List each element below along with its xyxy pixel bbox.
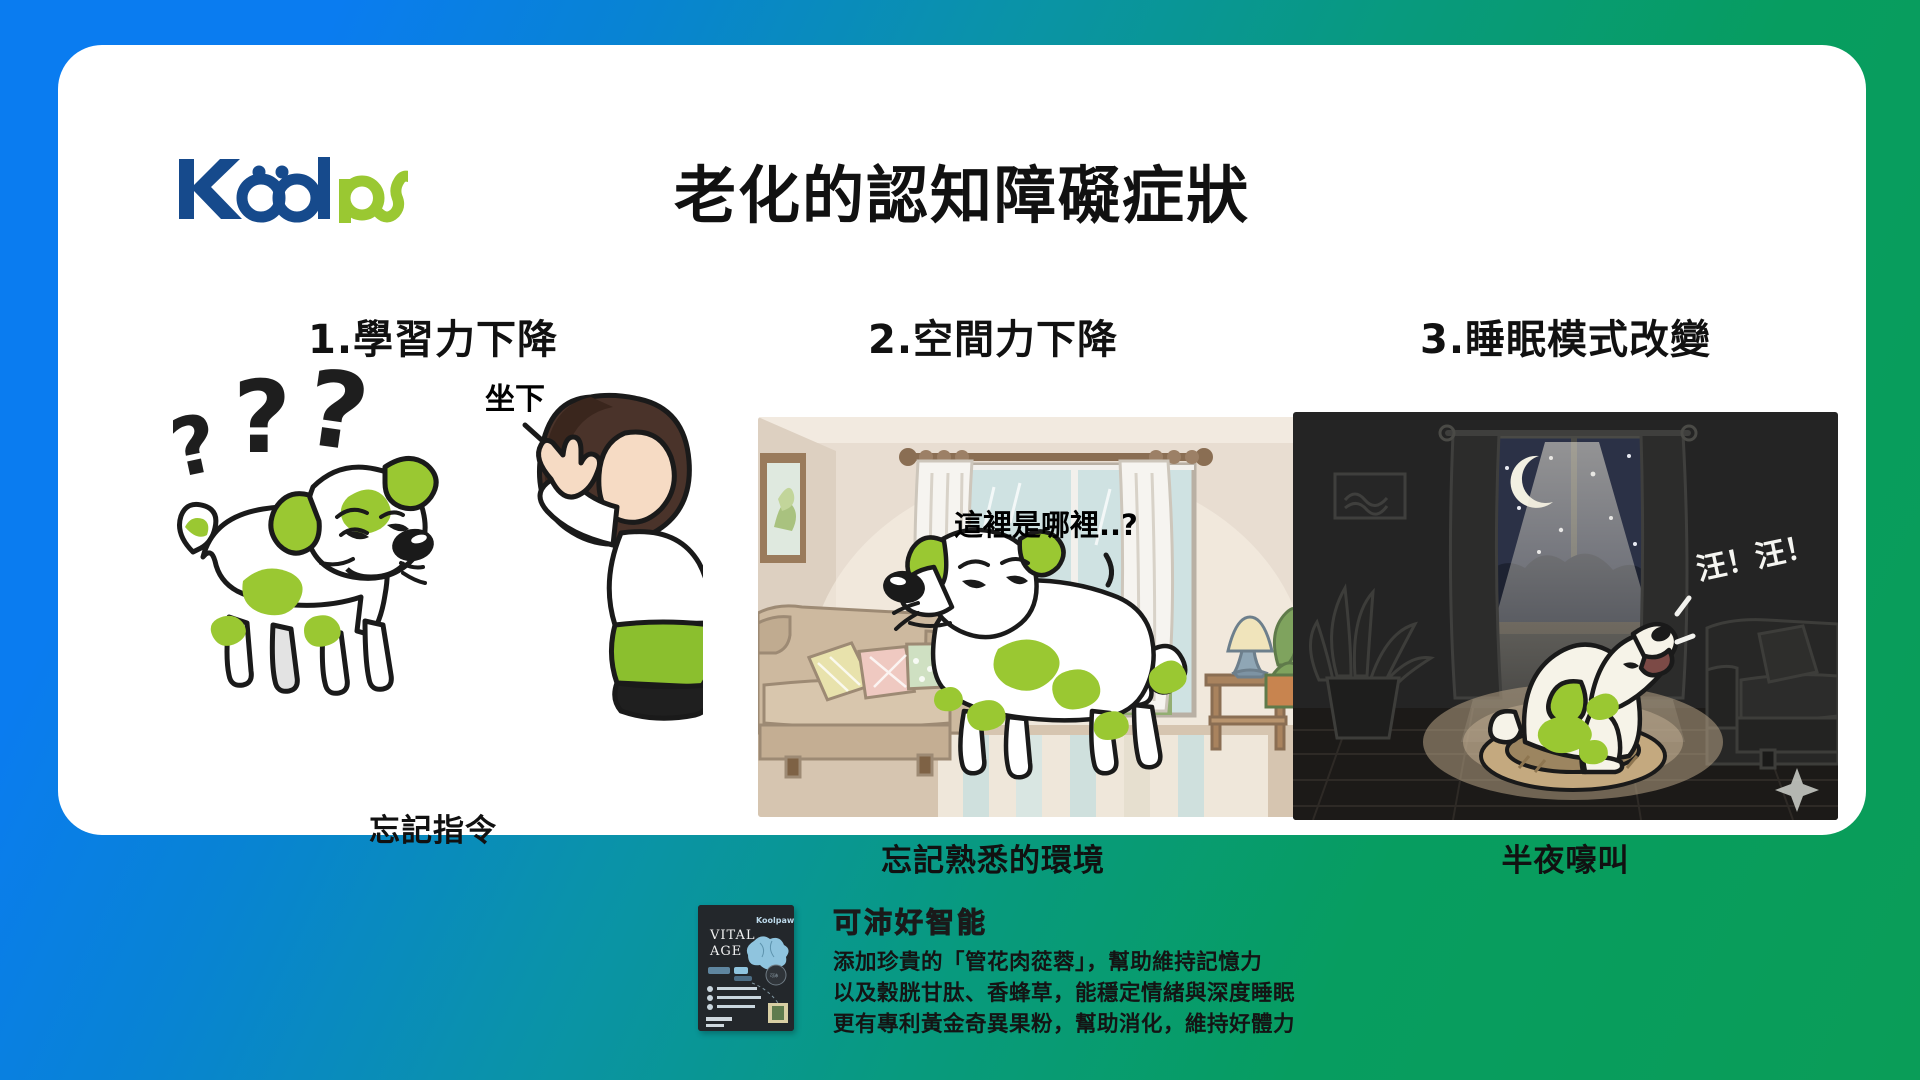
illustration-lost-in-room: 這裡是哪裡..? — [758, 417, 1298, 817]
product-line-3: 更有專利黃金奇異果粉，幫助消化，維持好體力 — [833, 1007, 1295, 1038]
product-line-2: 以及穀胱甘肽、香蜂草，能穩定情緒與深度睡眠 — [833, 976, 1295, 1007]
svg-text:?: ? — [233, 367, 291, 476]
main-card: 老化的認知障礙症狀 1.學習力下降 ? ? ? — [58, 45, 1866, 835]
svg-text:AGE: AGE — [709, 944, 742, 959]
product-line-1: 添加珍貴的「管花肉蓯蓉」，幫助維持記憶力 — [833, 945, 1262, 976]
section-2-caption: 忘記熟悉的環境 — [713, 835, 1273, 880]
section-learning-decline: 1.學習力下降 ? ? ? — [153, 307, 713, 365]
bubble-command: 坐下 — [485, 382, 545, 417]
svg-text:可沛: 可沛 — [770, 972, 778, 978]
section-1-heading: 1.學習力下降 — [153, 307, 713, 365]
product-package: VITAL AGE Koolpaw 可沛 — [698, 905, 794, 1031]
product-headline: 可沛好智能 — [833, 901, 988, 941]
section-3-caption: 半夜嚎叫 — [1273, 835, 1858, 880]
section-spatial-decline: 2.空間力下降 — [713, 307, 1273, 365]
page-title: 老化的認知障礙症狀 — [58, 145, 1866, 235]
illustration-forgetting-commands: ? ? ? — [173, 367, 703, 747]
svg-text:?: ? — [173, 396, 226, 497]
svg-text:Koolpaw: Koolpaw — [756, 916, 794, 925]
bubble-where-am-i: 這裡是哪裡..? — [954, 508, 1138, 542]
illustration-night-howling: 汪！汪！ — [1293, 412, 1838, 820]
product-promo: VITAL AGE Koolpaw 可沛 — [698, 905, 1498, 1055]
svg-text:?: ? — [298, 367, 375, 476]
section-1-caption: 忘記指令 — [153, 805, 713, 850]
svg-text:VITAL: VITAL — [709, 928, 756, 943]
section-3-heading: 3.睡眠模式改變 — [1273, 307, 1858, 365]
section-sleep-change: 3.睡眠模式改變 — [1273, 307, 1858, 365]
section-2-heading: 2.空間力下降 — [713, 307, 1273, 365]
